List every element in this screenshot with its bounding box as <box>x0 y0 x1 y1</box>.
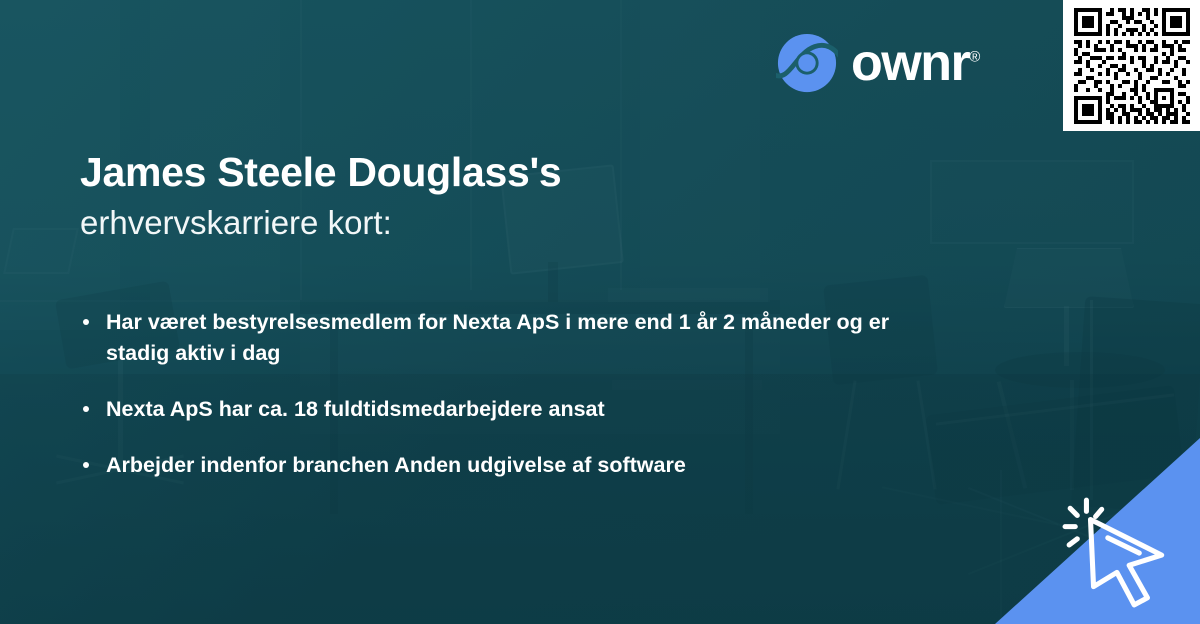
career-card: ownr® <box>0 0 1200 624</box>
list-item-label: Arbejder indenfor branchen Anden udgivel… <box>106 453 686 477</box>
list-item-label: Nexta ApS har ca. 18 fuldtidsmedarbejder… <box>106 397 605 421</box>
bullet-dot-icon <box>83 319 89 325</box>
list-item: Arbejder indenfor branchen Anden udgivel… <box>80 450 896 481</box>
card-content: James Steele Douglass's erhvervskarriere… <box>80 150 980 481</box>
list-item: Nexta ApS har ca. 18 fuldtidsmedarbejder… <box>80 394 896 425</box>
bullet-dot-icon <box>83 462 89 468</box>
qr-code-icon <box>1074 8 1190 124</box>
fact-list: Har været bestyrelsesmedlem for Nexta Ap… <box>80 307 980 482</box>
list-item: Har været bestyrelsesmedlem for Nexta Ap… <box>80 307 896 369</box>
registered-trademark-icon: ® <box>969 49 980 66</box>
page-subtitle: erhvervskarriere kort: <box>80 203 980 243</box>
click-cursor-icon <box>1060 488 1182 610</box>
list-item-label: Har været bestyrelsesmedlem for Nexta Ap… <box>106 310 889 365</box>
page-title: James Steele Douglass's <box>80 150 980 196</box>
ownr-logo[interactable]: ownr® <box>776 32 980 94</box>
ownr-circle-swoosh-icon <box>776 32 838 94</box>
qr-code-panel[interactable] <box>1063 0 1200 131</box>
ownr-wordmark: ownr® <box>851 37 980 89</box>
bullet-dot-icon <box>83 406 89 412</box>
ownr-wordmark-text: ownr <box>851 34 969 92</box>
